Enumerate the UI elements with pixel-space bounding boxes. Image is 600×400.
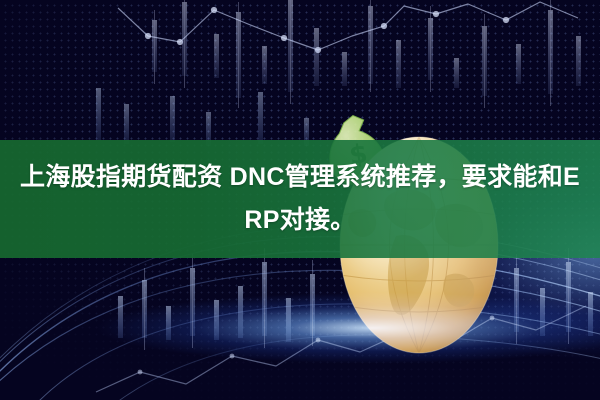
caption-line-2: RP对接。 bbox=[244, 199, 355, 242]
caption-line-1: 上海股指期货配资 DNC管理系统推荐，要求能和E bbox=[20, 156, 580, 199]
promo-banner: $ $ bbox=[0, 0, 600, 400]
caption-band: 上海股指期货配资 DNC管理系统推荐，要求能和E RP对接。 bbox=[0, 140, 600, 258]
candlestick-group-top bbox=[152, 0, 581, 108]
candlestick-group-mid bbox=[96, 88, 309, 146]
